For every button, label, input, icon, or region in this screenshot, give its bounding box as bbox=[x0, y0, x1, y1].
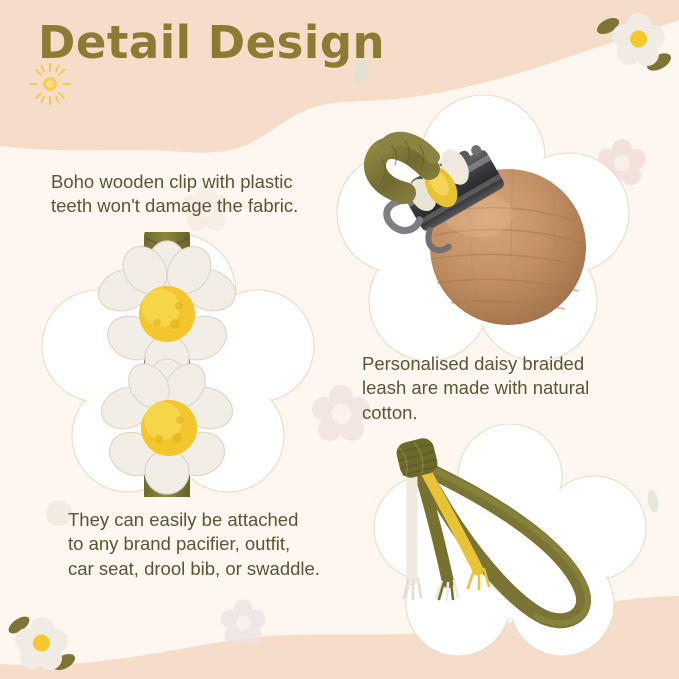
photo-daisy-braid bbox=[40, 232, 315, 497]
caption-daisy-leash: Personalised daisy braided leash are mad… bbox=[362, 352, 637, 425]
wooden-clip-illustration bbox=[333, 95, 633, 360]
daisy-flower-icon bbox=[595, 8, 675, 80]
photo-wooden-clip bbox=[333, 95, 633, 360]
page-title: Detail Design bbox=[38, 16, 385, 69]
daisy-flower-icon bbox=[6, 612, 80, 678]
caption-attachment-options: They can easily be attached to any brand… bbox=[68, 508, 368, 581]
sun-icon bbox=[28, 62, 72, 106]
product-detail-infographic: Detail Design bbox=[0, 0, 679, 679]
photo-cotton-cords bbox=[368, 424, 653, 656]
faint-flower-icon bbox=[218, 598, 268, 648]
daisy-braid-illustration bbox=[40, 232, 315, 497]
caption-wooden-clip: Boho wooden clip with plastic teeth won'… bbox=[51, 170, 351, 219]
cotton-cords-illustration bbox=[368, 424, 653, 656]
leaf-icon bbox=[352, 57, 372, 87]
